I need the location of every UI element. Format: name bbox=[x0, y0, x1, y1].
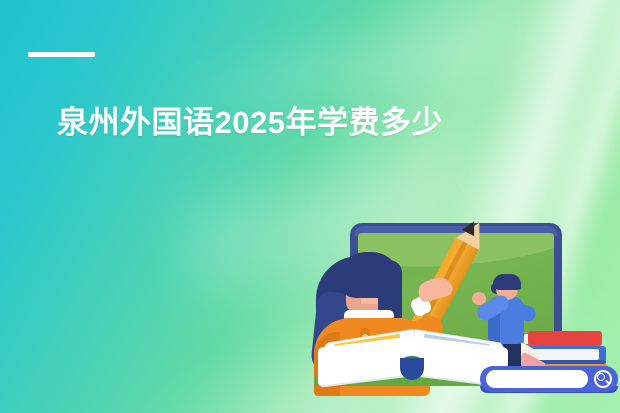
education-illustration bbox=[300, 200, 620, 413]
banner-image: 泉州外国语2025年学费多少 bbox=[0, 0, 620, 413]
page-title: 泉州外国语2025年学费多少 bbox=[57, 104, 443, 143]
boy-hair bbox=[493, 274, 521, 290]
search-icon[interactable] bbox=[597, 373, 605, 381]
search-input[interactable] bbox=[486, 370, 588, 388]
boy-hand bbox=[472, 292, 486, 305]
accent-rule bbox=[28, 52, 95, 57]
book-red bbox=[528, 331, 602, 346]
